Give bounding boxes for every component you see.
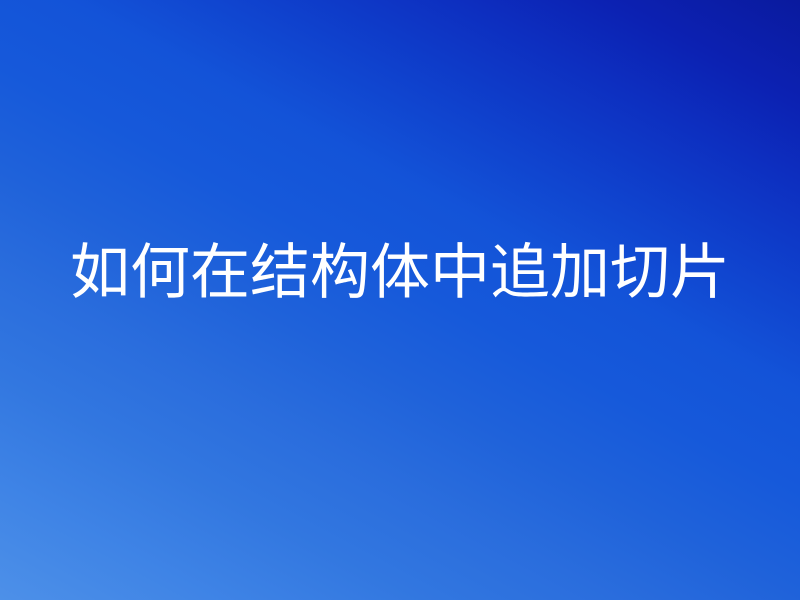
- headline-text: 如何在结构体中追加切片: [70, 240, 770, 307]
- banner-canvas: 如何在结构体中追加切片: [0, 0, 800, 600]
